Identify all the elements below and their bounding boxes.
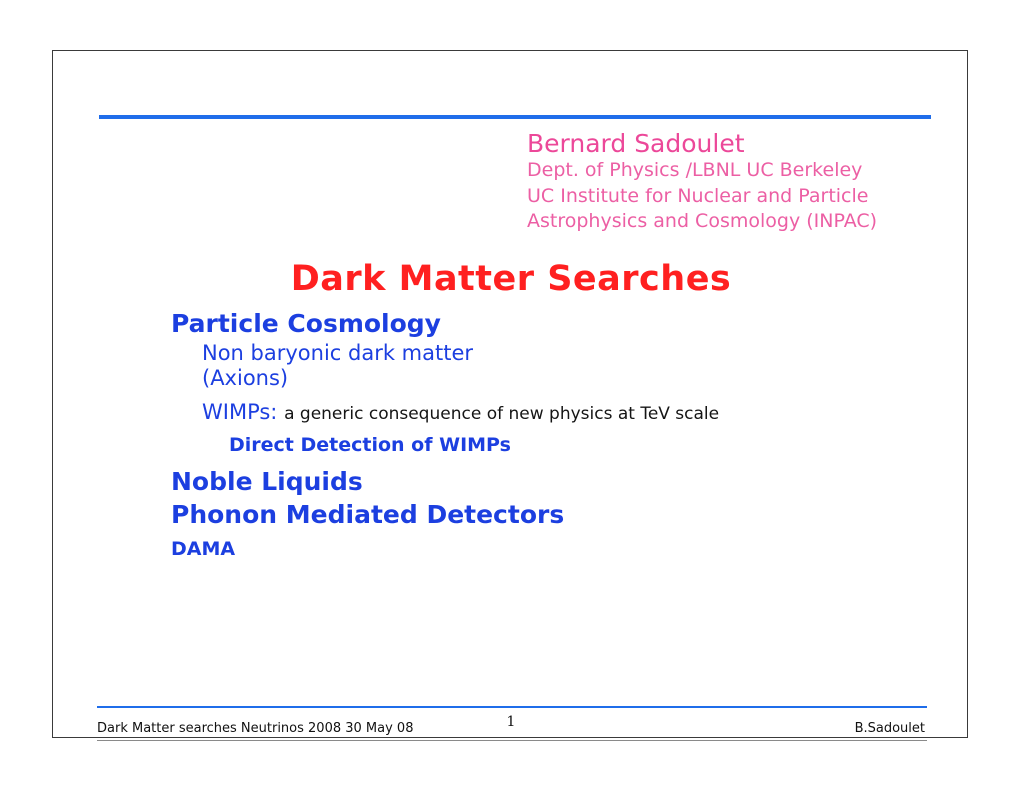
slide-title: Dark Matter Searches [53, 258, 969, 300]
outline-item-phonon-mediated-detectors: Phonon Mediated Detectors [171, 498, 941, 531]
outline-item-noble-liquids: Noble Liquids [171, 465, 941, 498]
outline-item-direct-detection-of-wimps: Direct Detection of WIMPs [229, 431, 941, 459]
outline-item-non-baryonic-dark-matter: Non baryonic dark matter [202, 340, 941, 366]
author-affiliation-line-3: Astrophysics and Cosmology (INPAC) [527, 209, 947, 235]
slide-canvas: Bernard Sadoulet Dept. of Physics /LBNL … [52, 50, 968, 738]
footer-page-number: 1 [53, 714, 969, 731]
outline-item-wimps: WIMPs: a generic consequence of new phys… [202, 397, 941, 429]
outline-list: Particle Cosmology Non baryonic dark mat… [171, 307, 941, 567]
outline-item-particle-cosmology: Particle Cosmology [171, 307, 941, 340]
outline-item-dama: DAMA [171, 535, 941, 563]
footer-divider-rule-top [97, 706, 927, 708]
footer-right-text: B.Sadoulet [855, 720, 925, 737]
author-affiliation-line-1: Dept. of Physics /LBNL UC Berkeley [527, 158, 947, 184]
outline-item-wimps-description: a generic consequence of new physics at … [284, 404, 719, 424]
header-divider-rule [99, 115, 931, 119]
author-name: Bernard Sadoulet [527, 129, 947, 158]
outline-item-wimps-label: WIMPs: [202, 400, 277, 424]
author-affiliation-line-2: UC Institute for Nuclear and Particle [527, 184, 947, 210]
author-block: Bernard Sadoulet Dept. of Physics /LBNL … [527, 129, 947, 235]
outline-item-axions: (Axions) [202, 366, 941, 391]
footer-divider-rule-bottom [97, 740, 927, 741]
